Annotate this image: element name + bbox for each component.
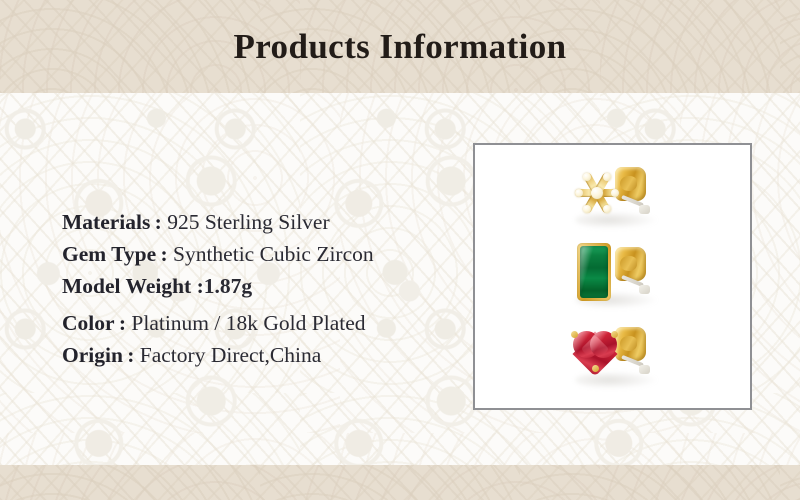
cz-stone bbox=[575, 189, 583, 197]
cz-stone bbox=[603, 205, 611, 213]
page-title: Products Information bbox=[0, 0, 800, 93]
product-information-page: Products Information Materials : 925 Ste… bbox=[0, 0, 800, 500]
footer-band bbox=[0, 465, 800, 500]
earring-back bbox=[615, 327, 646, 361]
gold-prong bbox=[592, 365, 599, 372]
specifications-list: Materials : 925 Sterling Silver Gem Type… bbox=[62, 206, 472, 371]
cz-stone bbox=[611, 189, 619, 197]
spec-value-gem-type: Synthetic Cubic Zircon bbox=[173, 242, 374, 266]
green-gem-icon bbox=[580, 246, 608, 298]
spec-label-gem-type: Gem Type : bbox=[62, 242, 168, 266]
spec-row-gem-type: Gem Type : Synthetic Cubic Zircon bbox=[62, 238, 472, 270]
red-heart-stud-earring bbox=[559, 321, 677, 395]
spec-value-color: Platinum / 18k Gold Plated bbox=[131, 311, 365, 335]
spec-label-materials: Materials : bbox=[62, 210, 162, 234]
spec-row-color: Color : Platinum / 18k Gold Plated bbox=[62, 307, 472, 339]
spec-row-origin: Origin : Factory Direct,China bbox=[62, 339, 472, 371]
product-image bbox=[475, 145, 750, 408]
spec-label-model-weight: Model Weight : bbox=[62, 274, 204, 298]
snowflake-gem-icon bbox=[573, 169, 621, 217]
gold-prong bbox=[571, 331, 578, 338]
cz-stone-center bbox=[591, 187, 603, 199]
spec-label-origin: Origin : bbox=[62, 343, 134, 367]
earring-post-tip bbox=[639, 205, 650, 214]
gold-prong bbox=[611, 331, 618, 338]
green-baguette-stud-earring bbox=[559, 241, 677, 315]
spec-row-model-weight: Model Weight :1.87g bbox=[62, 270, 472, 302]
spec-value-model-weight: 1.87g bbox=[204, 274, 252, 298]
spec-value-materials: 925 Sterling Silver bbox=[167, 210, 329, 234]
baguette-bezel bbox=[577, 243, 611, 301]
spec-value-origin: Factory Direct,China bbox=[140, 343, 322, 367]
snowflake-stud-earring bbox=[559, 161, 677, 235]
cz-stone bbox=[583, 205, 591, 213]
product-image-panel bbox=[473, 143, 752, 410]
spec-row-materials: Materials : 925 Sterling Silver bbox=[62, 206, 472, 238]
earring-post-tip bbox=[639, 365, 650, 374]
heart-gem-icon bbox=[573, 329, 619, 373]
cz-stone bbox=[583, 173, 591, 181]
spec-label-color: Color : bbox=[62, 311, 126, 335]
cz-stone bbox=[603, 173, 611, 181]
earring-back bbox=[615, 247, 646, 281]
earring-post-tip bbox=[639, 285, 650, 294]
